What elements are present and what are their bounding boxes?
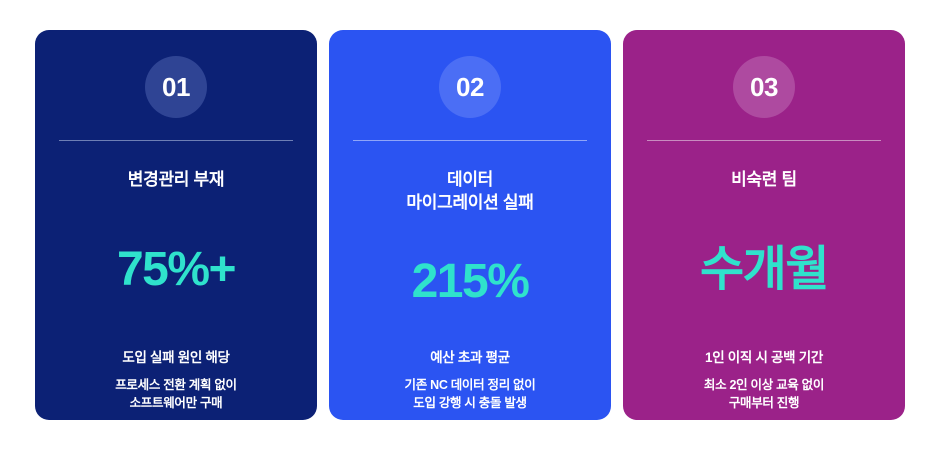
- card-stat-container: 215%: [329, 215, 611, 349]
- card-stat-container: 75%+: [35, 192, 317, 349]
- card-title: 비숙련 팀: [639, 169, 889, 192]
- card-title-line: 비숙련 팀: [639, 169, 889, 192]
- card-title: 변경관리 부재: [51, 169, 301, 192]
- card-divider: [353, 140, 587, 141]
- stat-card-01[interactable]: 01 변경관리 부재 75%+ 도입 실패 원인 해당 프로세스 전환 계획 없…: [35, 30, 317, 420]
- card-caption-sub: 프로세스 전환 계획 없이 소프트웨어만 구매: [46, 376, 306, 412]
- stat-card-03[interactable]: 03 비숙련 팀 수개월 1인 이직 시 공백 기간 최소 2인 이상 교육 없…: [623, 30, 905, 420]
- card-caption-sub-line: 구매부터 진행: [634, 394, 894, 412]
- card-caption-sub-line: 소프트웨어만 구매: [46, 394, 306, 412]
- card-caption-main: 도입 실패 원인 해당: [46, 349, 306, 368]
- card-title-line: 데이터: [345, 169, 595, 192]
- card-divider: [647, 140, 881, 141]
- card-caption-sub-line: 최소 2인 이상 교육 없이: [634, 376, 894, 394]
- card-stat-value: 수개월: [700, 246, 828, 294]
- card-caption-sub: 기존 NC 데이터 정리 없이 도입 강행 시 충돌 발생: [340, 376, 600, 412]
- card-title-line: 변경관리 부재: [51, 169, 301, 192]
- card-number-label: 02: [456, 74, 484, 100]
- card-caption-sub-line: 도입 강행 시 충돌 발생: [340, 394, 600, 412]
- card-caption-main: 1인 이직 시 공백 기간: [634, 349, 894, 368]
- card-number-label: 01: [162, 74, 190, 100]
- card-number-badge: 03: [733, 56, 795, 118]
- card-stat-value: 75%+: [117, 246, 235, 294]
- card-caption: 도입 실패 원인 해당 프로세스 전환 계획 없이 소프트웨어만 구매: [46, 349, 306, 412]
- card-caption-sub-line: 프로세스 전환 계획 없이: [46, 376, 306, 394]
- card-caption: 예산 초과 평균 기존 NC 데이터 정리 없이 도입 강행 시 충돌 발생: [340, 349, 600, 412]
- stat-card-board: 01 변경관리 부재 75%+ 도입 실패 원인 해당 프로세스 전환 계획 없…: [0, 0, 940, 450]
- card-caption-main: 예산 초과 평균: [340, 349, 600, 368]
- card-title: 데이터 마이그레이션 실패: [345, 169, 595, 215]
- card-stat-value: 215%: [412, 258, 529, 306]
- card-caption-sub-line: 기존 NC 데이터 정리 없이: [340, 376, 600, 394]
- stat-card-02[interactable]: 02 데이터 마이그레이션 실패 215% 예산 초과 평균 기존 NC 데이터…: [329, 30, 611, 420]
- card-title-line: 마이그레이션 실패: [345, 192, 595, 215]
- card-divider: [59, 140, 293, 141]
- card-caption-sub: 최소 2인 이상 교육 없이 구매부터 진행: [634, 376, 894, 412]
- card-number-label: 03: [750, 74, 778, 100]
- card-stat-container: 수개월: [623, 192, 905, 349]
- card-caption: 1인 이직 시 공백 기간 최소 2인 이상 교육 없이 구매부터 진행: [634, 349, 894, 412]
- card-number-badge: 01: [145, 56, 207, 118]
- card-number-badge: 02: [439, 56, 501, 118]
